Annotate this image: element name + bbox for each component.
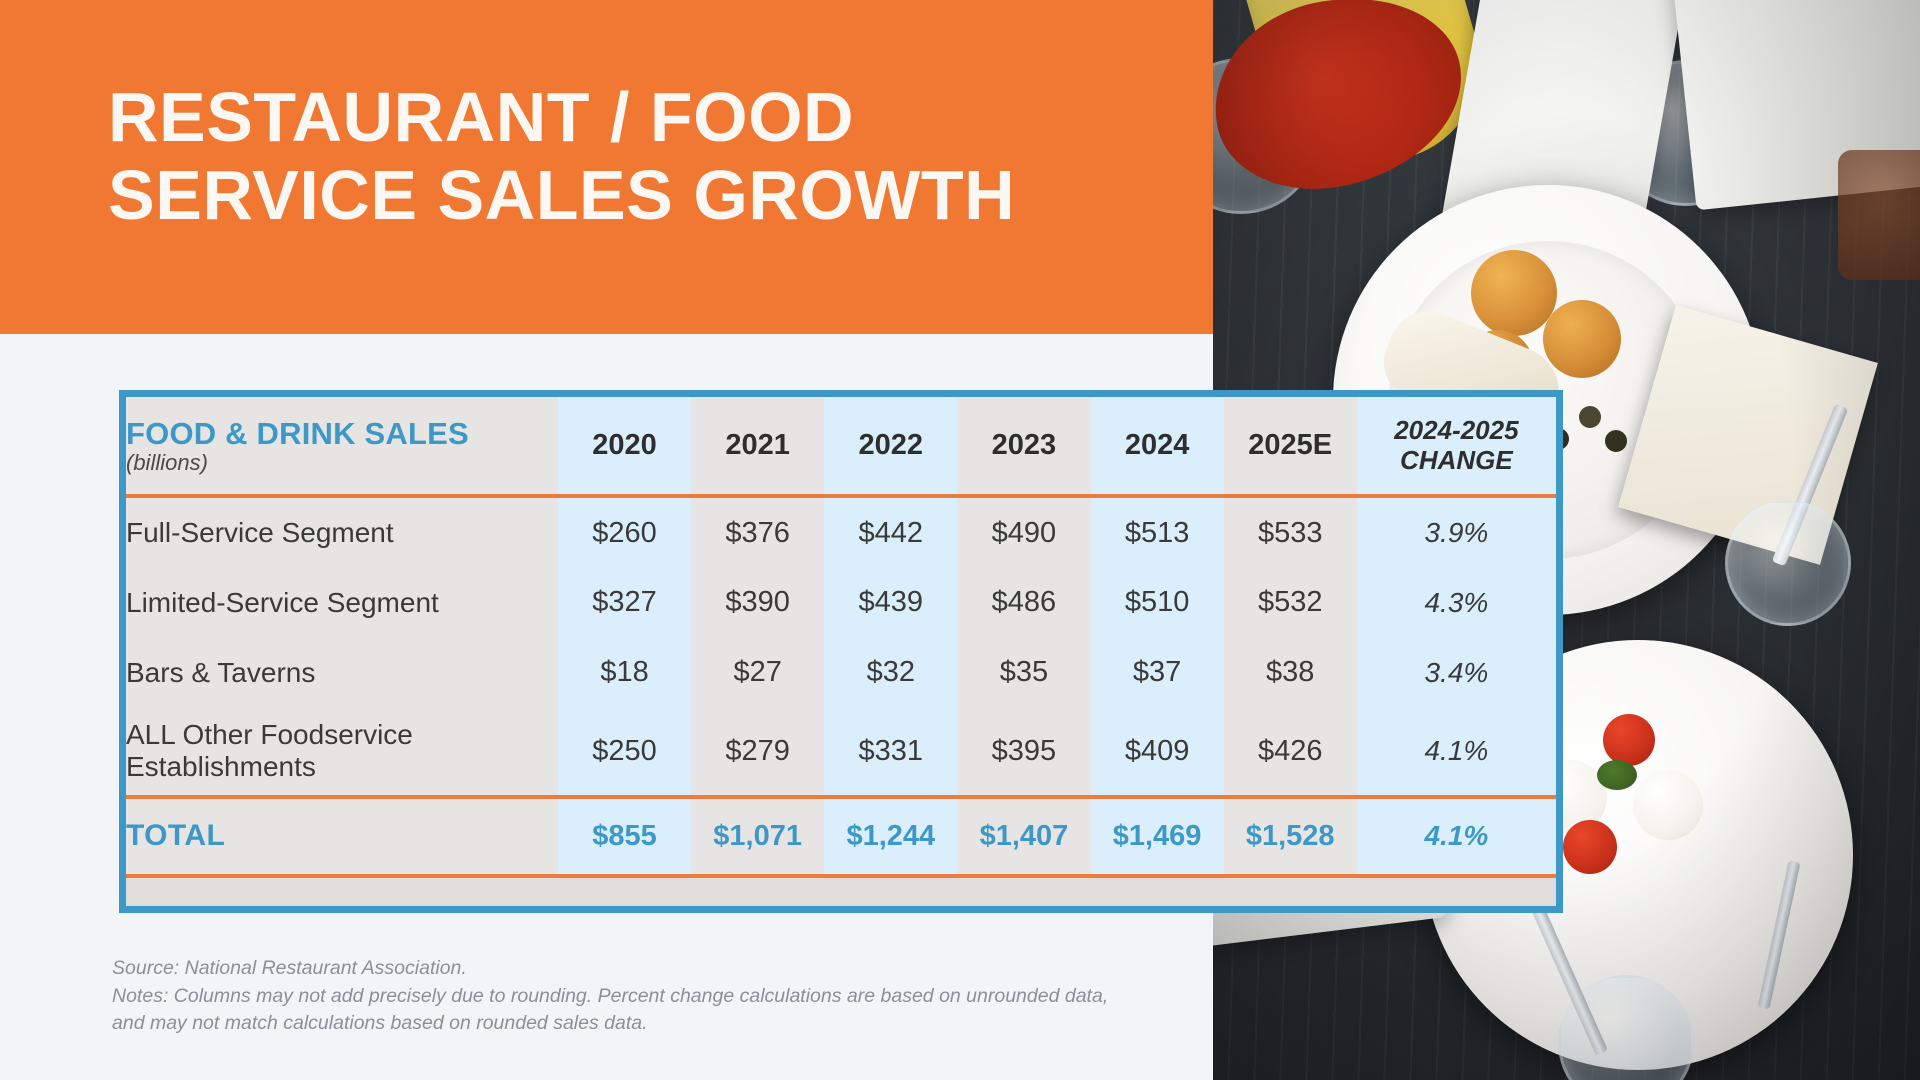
water-glass-3 [1725, 500, 1851, 626]
cell-bars-taverns-change: 3.4% [1357, 638, 1556, 708]
cell-bars-taverns-2020: $18 [558, 638, 691, 708]
header-title-cell: FOOD & DRINK SALES (billions) [126, 397, 558, 494]
dark-drink-glass [1838, 150, 1920, 280]
cell-total-2025e: $1,528 [1224, 799, 1357, 874]
table-row: Full-Service Segment $260 $376 $442 $490… [126, 498, 1556, 568]
cell-all-other-2020: $250 [558, 708, 691, 795]
row-label-all-other-foodservice: ALL Other Foodservice Establishments [126, 708, 558, 795]
cell-all-other-2022: $331 [824, 708, 957, 795]
column-header-2020: 2020 [558, 397, 691, 494]
cell-all-other-2025e: $426 [1224, 708, 1357, 795]
table-row: ALL Other Foodservice Establishments $25… [126, 708, 1556, 795]
cell-total-2021: $1,071 [691, 799, 824, 874]
cell-bars-taverns-2024: $37 [1091, 638, 1224, 708]
cell-bars-taverns-2025e: $38 [1224, 638, 1357, 708]
title-banner: RESTAURANT / FOOD SERVICE SALES GROWTH [0, 0, 1213, 334]
row-label-limited-service: Limited-Service Segment [126, 568, 558, 638]
sales-table-card: FOOD & DRINK SALES (billions) 2020 2021 … [119, 390, 1563, 913]
table-footer-strip [126, 878, 1556, 906]
table-row: Bars & Taverns $18 $27 $32 $35 $37 $38 3… [126, 638, 1556, 708]
cell-full-service-2025e: $533 [1224, 498, 1357, 568]
column-header-change: 2024-2025 CHANGE [1357, 397, 1556, 494]
page-title: RESTAURANT / FOOD SERVICE SALES GROWTH [108, 78, 1168, 235]
column-header-2021: 2021 [691, 397, 824, 494]
cell-bars-taverns-2023: $35 [957, 638, 1090, 708]
cell-total-2024: $1,469 [1091, 799, 1224, 874]
cell-bars-taverns-2021: $27 [691, 638, 824, 708]
cell-limited-service-2020: $327 [558, 568, 691, 638]
cell-limited-service-2021: $390 [691, 568, 824, 638]
cell-limited-service-2023: $486 [957, 568, 1090, 638]
cell-limited-service-2022: $439 [824, 568, 957, 638]
cell-bars-taverns-2022: $32 [824, 638, 957, 708]
cell-limited-service-2025e: $532 [1224, 568, 1357, 638]
cell-full-service-2024: $513 [1091, 498, 1224, 568]
table-header-row: FOOD & DRINK SALES (billions) 2020 2021 … [126, 397, 1556, 494]
arancini-1 [1471, 250, 1557, 336]
cell-total-2022: $1,244 [824, 799, 957, 874]
column-header-2025e: 2025E [1224, 397, 1357, 494]
cell-all-other-2024: $409 [1091, 708, 1224, 795]
cell-full-service-2022: $442 [824, 498, 957, 568]
cell-all-other-change: 4.1% [1357, 708, 1556, 795]
cell-total-2023: $1,407 [957, 799, 1090, 874]
cell-full-service-2021: $376 [691, 498, 824, 568]
infographic-canvas: RESTAURANT / FOOD SERVICE SALES GROWTH F… [0, 0, 1920, 1080]
source-note: Source: National Restaurant Association. [112, 955, 1202, 983]
cell-limited-service-2024: $510 [1091, 568, 1224, 638]
cell-total-2020: $855 [558, 799, 691, 874]
cell-full-service-2020: $260 [558, 498, 691, 568]
cell-full-service-2023: $490 [957, 498, 1090, 568]
column-header-2024: 2024 [1091, 397, 1224, 494]
column-header-2022: 2022 [824, 397, 957, 494]
cell-all-other-2023: $395 [957, 708, 1090, 795]
table-row: Limited-Service Segment $327 $390 $439 $… [126, 568, 1556, 638]
row-label-bars-taverns: Bars & Taverns [126, 638, 558, 708]
row-label-total: TOTAL [126, 799, 558, 874]
table-title: FOOD & DRINK SALES [126, 418, 558, 449]
table-total-row: TOTAL $855 $1,071 $1,244 $1,407 $1,469 $… [126, 799, 1556, 874]
cell-full-service-change: 3.9% [1357, 498, 1556, 568]
cell-all-other-2021: $279 [691, 708, 824, 795]
column-header-2023: 2023 [957, 397, 1090, 494]
table-subtitle: (billions) [126, 452, 558, 474]
methodology-note: Notes: Columns may not add precisely due… [112, 983, 1202, 1038]
row-label-full-service: Full-Service Segment [126, 498, 558, 568]
arancini-2 [1543, 300, 1621, 378]
cell-total-change: 4.1% [1357, 799, 1556, 874]
footnotes: Source: National Restaurant Association.… [112, 955, 1202, 1038]
sales-table: FOOD & DRINK SALES (billions) 2020 2021 … [126, 397, 1556, 906]
cell-limited-service-change: 4.3% [1357, 568, 1556, 638]
